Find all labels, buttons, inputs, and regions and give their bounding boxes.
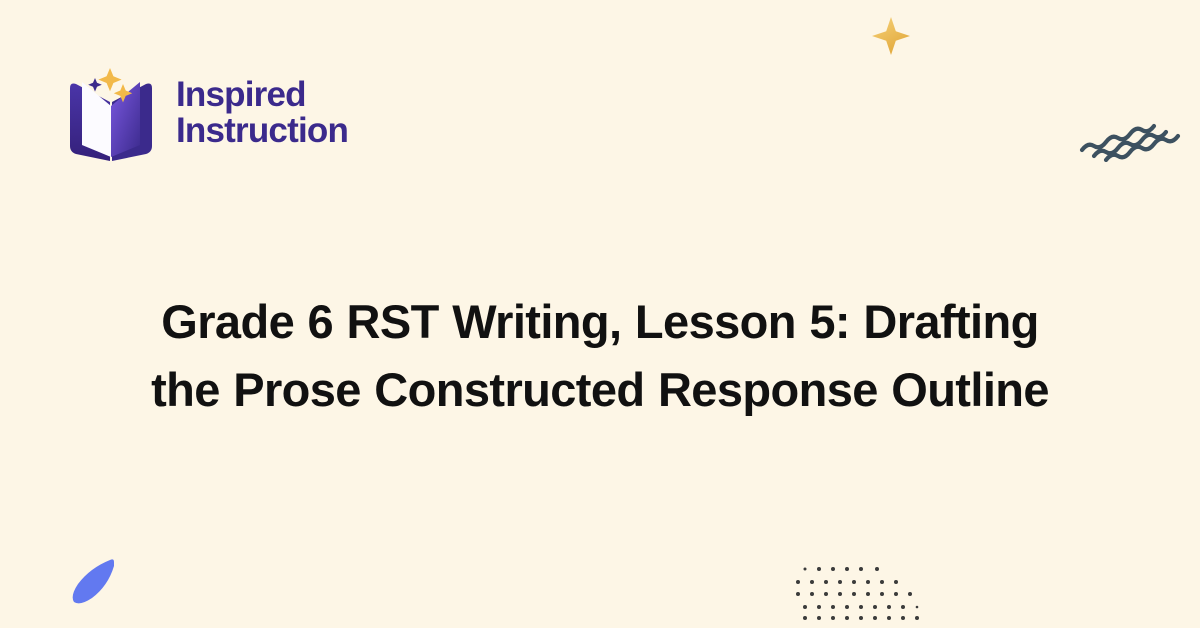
title-container: Grade 6 RST Writing, Lesson 5: Drafting …: [0, 288, 1200, 423]
brand-name-line-2: Instruction: [176, 113, 348, 149]
filled-circle-icon: [1126, 452, 1174, 500]
four-point-star-icon: [862, 8, 920, 64]
page-title: Grade 6 RST Writing, Lesson 5: Drafting …: [150, 288, 1050, 423]
brand-wordmark: Inspired Instruction: [176, 75, 348, 148]
leaf-shape-icon: [70, 556, 116, 604]
brand-lockup: Inspired Instruction: [62, 62, 348, 162]
dot-grid-icon: [793, 564, 929, 622]
wavy-lines-icon: [1078, 68, 1182, 162]
lesson-title-card: Inspired Instruction Grade 6 RST Writing…: [0, 0, 1200, 628]
open-book-with-sparkles-icon: [62, 62, 160, 162]
brand-name-line-1: Inspired: [176, 77, 348, 113]
